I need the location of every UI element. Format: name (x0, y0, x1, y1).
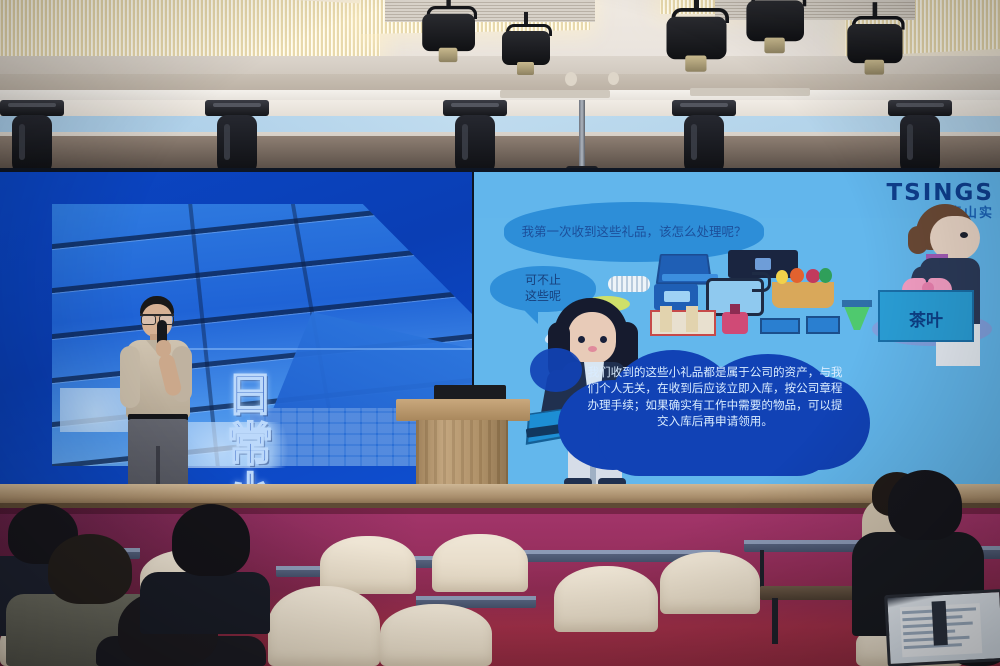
ceiling-slot-right (690, 88, 810, 96)
laptop-screen (884, 589, 1000, 666)
perfume-item-icon (722, 312, 748, 334)
cloud-trail-1 (530, 348, 582, 392)
ceiling-speaker-a (565, 72, 577, 86)
cake-stripe2-icon (686, 306, 698, 332)
character2-ponytail (908, 226, 928, 254)
ceiling-speaker-b (608, 72, 619, 85)
wine-glass-item-icon (844, 306, 870, 330)
empty-chair-6 (380, 604, 492, 666)
presenter-glasses-left (141, 315, 156, 325)
presentation-photo: 日常小场景 TSINGS 青山实 我第一次收到这些礼品，该怎么处理呢？ 可不止 … (0, 0, 1000, 666)
ceiling-vent-left (385, 0, 595, 22)
empty-chair-1 (320, 536, 416, 594)
character2-eye (960, 232, 968, 238)
empty-chair-3 (660, 552, 760, 614)
attendee-body-4 (140, 572, 270, 634)
character-eye-left (578, 336, 585, 343)
gift-box-label: 茶叶 (880, 306, 972, 331)
attendee-head-6 (888, 470, 962, 540)
lectern-top (396, 399, 530, 421)
attendee-head-4 (172, 504, 250, 576)
fruit-pear-icon (819, 268, 832, 283)
thought-cloud-text: 我们收到的这些小礼品都是属于公司的资产，与我们个人无关，在收到后应该立即入库，按… (584, 364, 846, 430)
box-item-icon (806, 316, 840, 334)
fruit-basket-item-icon (772, 282, 834, 308)
attendee-laptop (884, 589, 1000, 666)
right-projection-screen: TSINGS 青山实 我第一次收到这些礼品，该怎么处理呢？ 可不止 这些呢 (474, 172, 1000, 484)
fruit-orange-icon (790, 268, 804, 283)
thought-cloud-bubble: 我们收到的这些小礼品都是属于公司的资产，与我们个人无关，在收到后应该立即入库，按… (558, 350, 870, 476)
presenter-hand (156, 340, 171, 357)
slide-vertical-title: 日常小场景 (198, 370, 270, 484)
watch-item-icon (608, 276, 650, 292)
teapot-handle-icon (752, 272, 771, 292)
question-bubble-text: 我第一次收到这些礼品，该怎么处理呢？ (507, 224, 760, 241)
ceiling-slot-left (500, 90, 610, 98)
character-eye-right (600, 336, 607, 343)
glass-rim-icon (842, 300, 872, 307)
card-item-icon (760, 318, 800, 334)
gift-box: 茶叶 (878, 290, 974, 342)
attendee-head-2 (48, 534, 132, 604)
camera-lens-icon (664, 291, 690, 302)
fruit-apple-icon (806, 269, 820, 283)
fruit-banana-icon (776, 270, 788, 284)
left-projection-screen: 日常小场景 (0, 172, 472, 484)
empty-chair-2 (432, 534, 528, 592)
desk-leg-3 (772, 598, 778, 644)
question-speech-bubble: 我第一次收到这些礼品，该怎么处理呢？ (504, 202, 764, 262)
empty-chair-5 (268, 586, 380, 666)
empty-chair-4 (554, 566, 658, 632)
truss-blue-glow (0, 116, 1000, 132)
perfume-cap-icon (730, 304, 740, 314)
presenter-arm-left (120, 346, 140, 408)
laptop-sidebar (932, 601, 948, 646)
briefcase-latch-icon (755, 258, 771, 270)
cake-stripe-icon (660, 306, 672, 332)
camera-pole (579, 100, 585, 170)
truss-dark-band (0, 136, 1000, 168)
